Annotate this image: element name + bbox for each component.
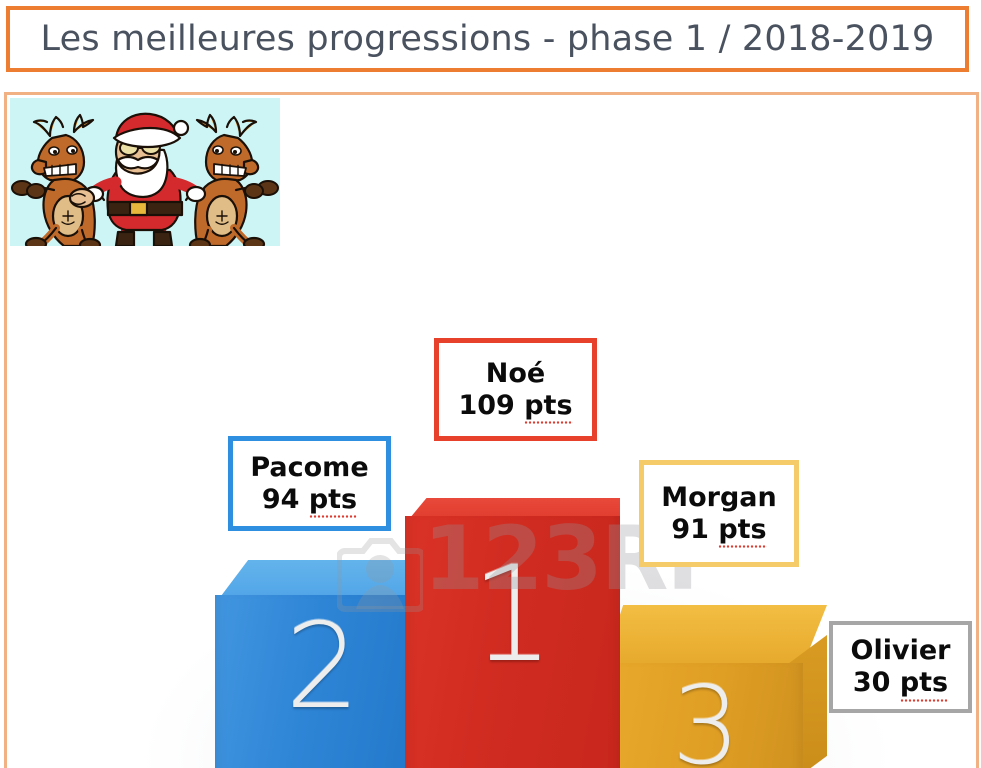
points-unit-morgan: pts	[718, 514, 766, 546]
content-frame: 2 3 1 123RF Noé 109 pts Paco	[4, 92, 979, 768]
label-points-olivier: 30 pts	[853, 667, 948, 699]
title-banner: Les meilleures progressions - phase 1 / …	[6, 6, 969, 72]
label-name-morgan: Morgan	[661, 482, 777, 514]
label-name-olivier: Olivier	[851, 635, 951, 667]
points-value-pacome: 94	[262, 484, 300, 515]
points-value-olivier: 30	[853, 667, 891, 698]
santa-and-reindeer-clipart	[10, 98, 280, 246]
page-title: Les meilleures progressions - phase 1 / …	[41, 19, 935, 59]
rank-number-2: 2	[285, 607, 360, 725]
block-3-top-face	[603, 605, 827, 667]
label-box-noe[interactable]: Noé 109 pts	[434, 338, 597, 441]
points-unit-noe: pts	[524, 390, 572, 422]
label-points-noe: 109 pts	[458, 390, 572, 422]
podium-block-rank-3: 3	[603, 605, 827, 768]
label-points-morgan: 91 pts	[671, 514, 766, 546]
label-box-pacome[interactable]: Pacome 94 pts	[228, 436, 391, 531]
points-unit-pacome: pts	[309, 484, 357, 516]
label-box-morgan[interactable]: Morgan 91 pts	[639, 460, 799, 567]
label-name-noe: Noé	[486, 358, 545, 390]
rank-number-1: 1	[471, 549, 555, 681]
label-box-olivier[interactable]: Olivier 30 pts	[829, 621, 972, 713]
podium-block-rank-2: 2	[215, 560, 422, 768]
points-value-noe: 109	[458, 390, 514, 421]
label-name-pacome: Pacome	[250, 452, 368, 484]
podium-block-rank-1: 1	[405, 498, 620, 768]
label-points-pacome: 94 pts	[262, 484, 357, 516]
points-unit-olivier: pts	[900, 667, 948, 699]
points-value-morgan: 91	[671, 514, 709, 545]
rank-number-3: 3	[672, 673, 741, 768]
clipart-svg	[10, 98, 280, 246]
